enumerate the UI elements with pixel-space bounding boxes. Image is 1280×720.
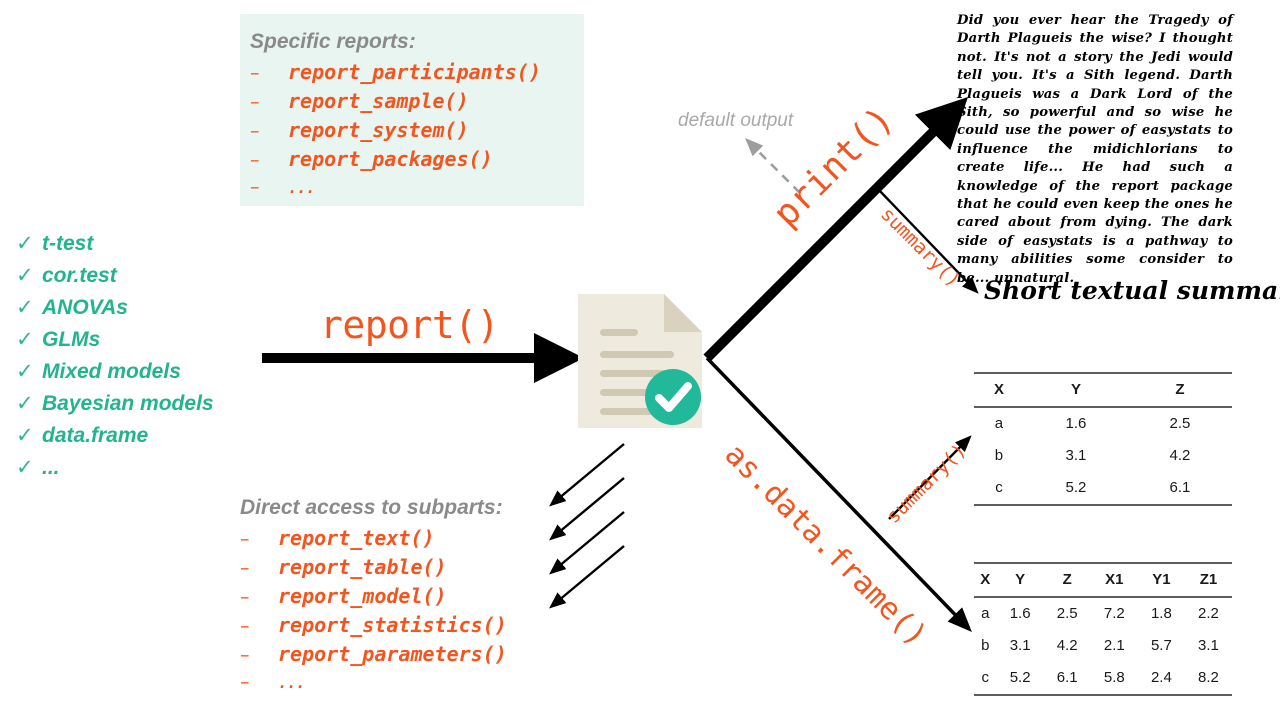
data-frame-output-table: X Y Z a 1.6 2.5 b 3.1 4.2 c 5.2 <box>974 372 1232 506</box>
specific-reports-heading: Specific reports: <box>250 30 584 54</box>
table-cell: 8.2 <box>1185 662 1232 695</box>
column-header: Z <box>1128 373 1232 407</box>
column-header: X1 <box>1091 563 1138 597</box>
function-label: report_packages() <box>288 147 493 171</box>
table-header-row: X Y Z <box>974 373 1232 407</box>
default-output-paragraph: Did you ever hear the Tragedy of Darth P… <box>957 12 1233 288</box>
list-item: – report_parameters() <box>240 642 600 671</box>
list-item: ✓ t-test <box>16 232 266 264</box>
table-cell: 3.1 <box>1185 630 1232 662</box>
function-label: report_sample() <box>288 89 469 113</box>
table-row: b 3.1 4.2 2.1 5.7 3.1 <box>974 630 1232 662</box>
table-cell: c <box>974 472 1024 505</box>
function-label: ... <box>278 674 305 692</box>
bullet-dash-icon: – <box>240 528 278 550</box>
table-cell: 6.1 <box>1044 662 1091 695</box>
checklist-label: Mixed models <box>42 360 181 384</box>
bullet-dash-icon: – <box>240 615 278 637</box>
table-cell: 5.7 <box>1138 630 1185 662</box>
specific-reports-panel: Specific reports: – report_participants(… <box>240 14 584 206</box>
column-header: Y <box>1024 373 1128 407</box>
table-header-row: X Y Z X1 Y1 Z1 <box>974 563 1232 597</box>
bullet-dash-icon: – <box>250 120 288 142</box>
column-header: X <box>974 373 1024 407</box>
table-header: X Y Z X1 Y1 Z1 <box>974 563 1232 597</box>
table-row: c 5.2 6.1 5.8 2.4 8.2 <box>974 662 1232 695</box>
check-icon: ✓ <box>16 297 42 318</box>
function-label: report_statistics() <box>278 613 507 637</box>
list-item: – report_packages() <box>250 147 584 176</box>
table-body: a 1.6 2.5 7.2 1.8 2.2 b 3.1 4.2 2.1 5.7 … <box>974 597 1232 695</box>
function-label: report_model() <box>278 584 447 608</box>
list-item: – report_text() <box>240 526 600 555</box>
column-header: X <box>974 563 997 597</box>
check-icon: ✓ <box>16 457 42 478</box>
table-cell: 2.5 <box>1128 407 1232 440</box>
bullet-dash-icon: – <box>240 644 278 666</box>
function-label: ... <box>288 179 315 197</box>
check-icon: ✓ <box>16 393 42 414</box>
check-icon: ✓ <box>16 329 42 350</box>
column-header: Y1 <box>1138 563 1185 597</box>
default-output-note: default output <box>678 110 793 132</box>
list-item: ✓ data.frame <box>16 424 266 456</box>
document-check-icon <box>578 294 702 428</box>
bullet-dash-icon: – <box>250 91 288 113</box>
subparts-panel: Direct access to subparts: – report_text… <box>240 496 600 700</box>
list-item: – ... <box>240 671 600 700</box>
table-row: a 1.6 2.5 <box>974 407 1232 440</box>
table-cell: 1.6 <box>1024 407 1128 440</box>
table-cell: 2.4 <box>1138 662 1185 695</box>
table-cell: 1.6 <box>997 597 1044 630</box>
list-item: – report_statistics() <box>240 613 600 642</box>
function-label: report_system() <box>288 118 469 142</box>
checklist-label: ANOVAs <box>42 296 128 320</box>
table-cell: 2.5 <box>1044 597 1091 630</box>
check-icon: ✓ <box>16 265 42 286</box>
table-cell: 1.8 <box>1138 597 1185 630</box>
table-cell: 5.2 <box>1024 472 1128 505</box>
checklist-label: data.frame <box>42 424 148 448</box>
table-body: a 1.6 2.5 b 3.1 4.2 c 5.2 6.1 <box>974 407 1232 505</box>
supported-models-checklist: ✓ t-test ✓ cor.test ✓ ANOVAs ✓ GLMs ✓ Mi… <box>16 232 266 488</box>
table-header: X Y Z <box>974 373 1232 407</box>
table-cell: c <box>974 662 997 695</box>
check-icon: ✓ <box>16 361 42 382</box>
checklist-label: GLMs <box>42 328 100 352</box>
bullet-dash-icon: – <box>250 149 288 171</box>
bullet-dash-icon: – <box>240 586 278 608</box>
list-item: – report_sample() <box>250 89 584 118</box>
list-item: ✓ Mixed models <box>16 360 266 392</box>
table-cell: 5.2 <box>997 662 1044 695</box>
list-item: ✓ Bayesian models <box>16 392 266 424</box>
table-cell: a <box>974 407 1024 440</box>
table: X Y Z X1 Y1 Z1 a 1.6 2.5 7.2 1.8 2.2 <box>974 562 1232 696</box>
table-cell: 2.2 <box>1185 597 1232 630</box>
checklist-label: Bayesian models <box>42 392 214 416</box>
bullet-dash-icon: – <box>240 671 278 693</box>
table-cell: 5.8 <box>1091 662 1138 695</box>
function-label: report_parameters() <box>278 642 507 666</box>
list-item: – report_model() <box>240 584 600 613</box>
table-cell: b <box>974 630 997 662</box>
table-row: a 1.6 2.5 7.2 1.8 2.2 <box>974 597 1232 630</box>
bullet-dash-icon: – <box>250 176 288 198</box>
subparts-heading: Direct access to subparts: <box>240 496 600 520</box>
table-cell: 4.2 <box>1044 630 1091 662</box>
check-icon: ✓ <box>16 233 42 254</box>
column-header: Y <box>997 563 1044 597</box>
table-row: b 3.1 4.2 <box>974 440 1232 472</box>
short-summary-output: Short textual summary <box>984 276 1280 305</box>
list-item: ✓ ANOVAs <box>16 296 266 328</box>
list-item: – report_participants() <box>250 60 584 89</box>
list-item: – ... <box>250 176 584 205</box>
column-header: Z1 <box>1185 563 1232 597</box>
function-label: report_text() <box>278 526 435 550</box>
table-cell: 4.2 <box>1128 440 1232 472</box>
checklist-label: ... <box>42 456 60 480</box>
function-label: report_participants() <box>288 60 541 84</box>
checklist-label: cor.test <box>42 264 117 288</box>
check-icon: ✓ <box>16 425 42 446</box>
function-label: report_table() <box>278 555 447 579</box>
bullet-dash-icon: – <box>250 62 288 84</box>
table-cell: 6.1 <box>1128 472 1232 505</box>
summary-data-frame-output-table: X Y Z X1 Y1 Z1 a 1.6 2.5 7.2 1.8 2.2 <box>974 562 1232 696</box>
diagram-canvas: ✓ t-test ✓ cor.test ✓ ANOVAs ✓ GLMs ✓ Mi… <box>0 0 1280 720</box>
table: X Y Z a 1.6 2.5 b 3.1 4.2 c 5.2 <box>974 372 1232 506</box>
table-cell: 2.1 <box>1091 630 1138 662</box>
checklist-label: t-test <box>42 232 93 256</box>
list-item: – report_table() <box>240 555 600 584</box>
table-cell: 3.1 <box>1024 440 1128 472</box>
list-item: ✓ cor.test <box>16 264 266 296</box>
table-cell: a <box>974 597 997 630</box>
report-function-label: report() <box>320 303 499 347</box>
table-cell: 7.2 <box>1091 597 1138 630</box>
table-cell: b <box>974 440 1024 472</box>
table-cell: 3.1 <box>997 630 1044 662</box>
table-row: c 5.2 6.1 <box>974 472 1232 505</box>
list-item: ✓ GLMs <box>16 328 266 360</box>
list-item: ✓ ... <box>16 456 266 488</box>
bullet-dash-icon: – <box>240 557 278 579</box>
column-header: Z <box>1044 563 1091 597</box>
list-item: – report_system() <box>250 118 584 147</box>
